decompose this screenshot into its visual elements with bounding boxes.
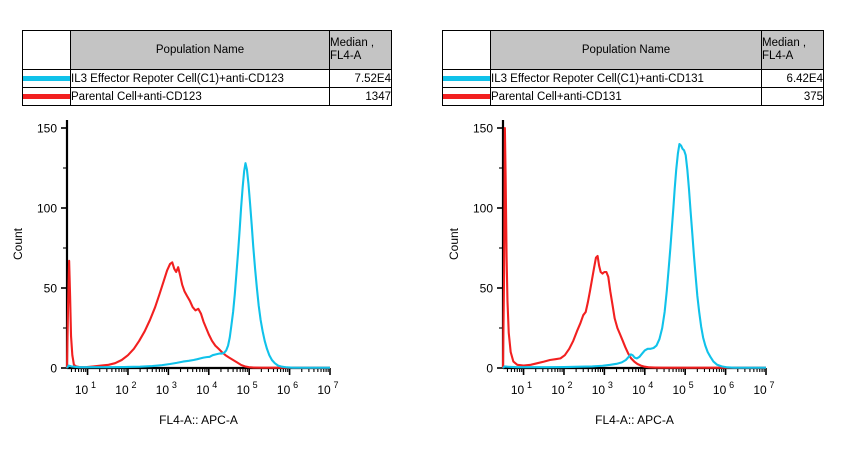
legend-header-median: Median , FL4-A: [330, 31, 392, 70]
x-tick-label: 10: [317, 383, 331, 397]
x-tick-exponent: 1: [91, 380, 96, 390]
color-swatch: [443, 76, 490, 81]
legend-header-swatch: [443, 31, 491, 70]
x-tick-exponent: 4: [648, 380, 653, 390]
x-tick-label: 10: [237, 383, 251, 397]
legend-row-parental[interactable]: Parental Cell+anti-CD131 375: [443, 88, 824, 106]
legend-header-population-name: Population Name: [71, 31, 330, 70]
x-tick-label: 10: [75, 383, 89, 397]
x-tick-label: 10: [277, 383, 291, 397]
legend-row-parental[interactable]: Parental Cell+anti-CD123 1347: [23, 88, 392, 106]
x-tick-exponent: 4: [212, 380, 217, 390]
legend-median-value: 7.52E4: [330, 70, 392, 88]
x-axis-ticks: 101102103104105106107: [507, 368, 774, 397]
y-axis-label: Count: [447, 227, 461, 260]
legend-swatch-cyan: [443, 70, 491, 88]
x-tick-exponent: 2: [567, 380, 572, 390]
histogram-svg: 050100150Count101102103104105106107FL4-A…: [424, 104, 847, 452]
y-tick-label: 150: [37, 122, 57, 136]
axes: [67, 120, 330, 368]
y-tick-label: 100: [473, 202, 493, 216]
x-tick-exponent: 6: [293, 380, 298, 390]
y-tick-label: 150: [473, 122, 493, 136]
legend-median-value: 1347: [330, 88, 392, 106]
legend-median-value: 6.42E4: [762, 70, 824, 88]
y-tick-label: 0: [486, 362, 493, 376]
legend-header-row: Population Name Median , FL4-A: [443, 31, 824, 70]
color-swatch: [23, 94, 70, 99]
legend-table-cd131: Population Name Median , FL4-A IL3 Effec…: [442, 30, 824, 106]
y-tick-label: 100: [37, 202, 57, 216]
legend-row-reporter[interactable]: IL3 Effector Repoter Cell(C1)+anti-CD131…: [443, 70, 824, 88]
x-tick-exponent: 7: [333, 380, 338, 390]
x-tick-exponent: 3: [172, 380, 177, 390]
legend-row-reporter[interactable]: IL3 Effector Repoter Cell(C1)+anti-CD123…: [23, 70, 392, 88]
histogram-plot-cd123: 050100150Count101102103104105106107FL4-A…: [0, 104, 424, 452]
panel-cd131: Population Name Median , FL4-A IL3 Effec…: [424, 0, 847, 452]
x-tick-label: 10: [511, 383, 525, 397]
histogram-trace: [67, 163, 330, 368]
x-tick-label: 10: [115, 383, 129, 397]
x-tick-label: 10: [551, 383, 565, 397]
legend-swatch-red: [23, 88, 71, 106]
legend-header-population-name: Population Name: [491, 31, 762, 70]
y-axis-ticks: 050100150: [37, 122, 67, 376]
panel-cd123: Population Name Median , FL4-A IL3 Effec…: [0, 0, 424, 452]
axes: [503, 120, 766, 368]
legend-population-name: IL3 Effector Repoter Cell(C1)+anti-CD123: [71, 70, 330, 88]
histogram-trace: [67, 261, 330, 368]
legend-population-name: Parental Cell+anti-CD131: [491, 88, 762, 106]
legend-header-median: Median , FL4-A: [762, 31, 824, 70]
x-tick-exponent: 2: [131, 380, 136, 390]
legend-population-name: Parental Cell+anti-CD123: [71, 88, 330, 106]
x-tick-exponent: 6: [729, 380, 734, 390]
legend-swatch-cyan: [23, 70, 71, 88]
x-tick-label: 10: [592, 383, 606, 397]
x-tick-label: 10: [632, 383, 646, 397]
legend-median-value: 375: [762, 88, 824, 106]
x-tick-exponent: 5: [689, 380, 694, 390]
legend-header-swatch: [23, 31, 71, 70]
legend-swatch-red: [443, 88, 491, 106]
histogram-svg: 050100150Count101102103104105106107FL4-A…: [0, 104, 424, 452]
y-tick-label: 0: [50, 362, 57, 376]
x-tick-exponent: 7: [769, 380, 774, 390]
histogram-trace: [503, 128, 766, 368]
legend-population-name: IL3 Effector Repoter Cell(C1)+anti-CD131: [491, 70, 762, 88]
legend-header-row: Population Name Median , FL4-A: [23, 31, 392, 70]
y-axis-label: Count: [11, 227, 25, 260]
x-tick-exponent: 3: [608, 380, 613, 390]
x-axis-ticks: 101102103104105106107: [71, 368, 338, 397]
x-tick-label: 10: [156, 383, 170, 397]
x-axis-label: FL4-A:: APC-A: [159, 413, 238, 427]
histogram-trace: [503, 144, 766, 368]
color-swatch: [23, 76, 70, 81]
y-tick-label: 50: [480, 282, 494, 296]
x-tick-exponent: 1: [527, 380, 532, 390]
histogram-plot-cd131: 050100150Count101102103104105106107FL4-A…: [424, 104, 847, 452]
x-tick-label: 10: [753, 383, 767, 397]
y-tick-label: 50: [44, 282, 58, 296]
x-axis-label: FL4-A:: APC-A: [595, 413, 674, 427]
color-swatch: [443, 94, 490, 99]
x-tick-label: 10: [196, 383, 210, 397]
x-tick-label: 10: [673, 383, 687, 397]
x-tick-exponent: 5: [253, 380, 258, 390]
legend-table-cd123: Population Name Median , FL4-A IL3 Effec…: [22, 30, 392, 106]
y-axis-ticks: 050100150: [473, 122, 503, 376]
x-tick-label: 10: [713, 383, 727, 397]
